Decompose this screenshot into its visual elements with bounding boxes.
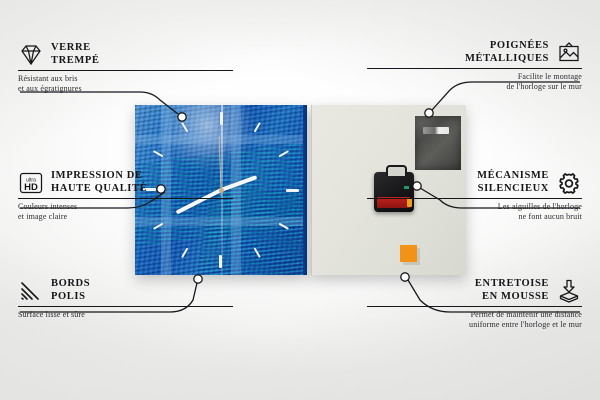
infographic-canvas: VERRE TREMPÉ Résistant aux bris et aux é… (0, 0, 600, 400)
hanger-slot (423, 127, 449, 134)
title-underline (367, 306, 582, 307)
feature-sub-line2: et aux égratignures (18, 84, 233, 94)
feature-foam-spacer[interactable]: ENTRETOISE EN MOUSSE Permet de maintenir… (367, 278, 582, 330)
feature-title-line2: MÉTALLIQUES (465, 53, 549, 66)
feature-title-line2: POLIS (51, 291, 90, 304)
feature-sub-line1: Permet de maintenir une distance (367, 310, 582, 320)
feature-title-line2: TREMPÉ (51, 55, 100, 68)
feature-sub-line2: uniforme entre l'horloge et le mur (367, 320, 582, 330)
hour-marker (153, 223, 164, 230)
hour-marker (279, 223, 290, 230)
feature-sub-line1: Les aiguilles de l'horloge (367, 202, 582, 212)
hour-marker (254, 122, 261, 133)
feature-sub-line1: Facilite le montage (367, 72, 582, 82)
hour-marker (286, 189, 299, 192)
feature-sub-line2: et image claire (18, 212, 233, 222)
feature-silent-mechanism[interactable]: MÉCANISME SILENCIEUX Les aiguilles de l'… (367, 170, 582, 222)
ultra-hd-bottom-label: HD (24, 182, 38, 193)
feature-sub-line1: Surface lisse et sûre (18, 310, 233, 320)
hour-marker (181, 248, 188, 259)
title-underline (18, 306, 233, 307)
hour-marker (220, 112, 223, 125)
feature-title-line1: IMPRESSION DE (51, 170, 147, 183)
feature-title-line1: POIGNÉES (465, 40, 549, 53)
diamond-icon (18, 43, 44, 67)
feature-title-line2: SILENCIEUX (477, 183, 549, 196)
polished-edge-icon (18, 279, 44, 303)
feature-title-line1: VERRE (51, 42, 100, 55)
feature-title-line2: HAUTE QUALITÉ (51, 183, 147, 196)
hour-marker (153, 150, 164, 157)
feature-sub-line1: Résistant aux bris (18, 74, 233, 84)
hour-marker (279, 150, 290, 157)
feature-print-quality[interactable]: ultra HD IMPRESSION DE HAUTE QUALITÉ Cou… (18, 170, 233, 222)
feature-title-line1: MÉCANISME (477, 170, 549, 183)
title-underline (18, 198, 233, 199)
feature-polished-edges[interactable]: BORDS POLIS Surface lisse et sûre (18, 278, 233, 320)
feature-sub-line2: ne font aucun bruit (367, 212, 582, 222)
feature-sub-line1: Couleurs intenses (18, 202, 233, 212)
feature-title-line2: EN MOUSSE (475, 291, 549, 304)
hour-marker (219, 255, 222, 268)
gear-icon (556, 171, 582, 195)
picture-frame-hanger-icon (556, 41, 582, 65)
foam-spacer (400, 245, 417, 262)
feature-tempered-glass[interactable]: VERRE TREMPÉ Résistant aux bris et aux é… (18, 42, 233, 94)
feature-title-line1: BORDS (51, 278, 90, 291)
title-underline (367, 198, 582, 199)
hour-marker (181, 122, 188, 133)
feature-title-line1: ENTRETOISE (475, 278, 549, 291)
title-underline (18, 70, 233, 71)
feature-metal-handles[interactable]: POIGNÉES MÉTALLIQUES Facilite le montage… (367, 40, 582, 92)
foam-spacer-arrow-icon (556, 279, 582, 303)
hour-marker (254, 248, 261, 259)
title-underline (367, 68, 582, 69)
metal-hanger-plate (415, 116, 461, 170)
feature-sub-line2: de l'horloge sur le mur (367, 82, 582, 92)
ultra-hd-icon: ultra HD (18, 171, 44, 195)
